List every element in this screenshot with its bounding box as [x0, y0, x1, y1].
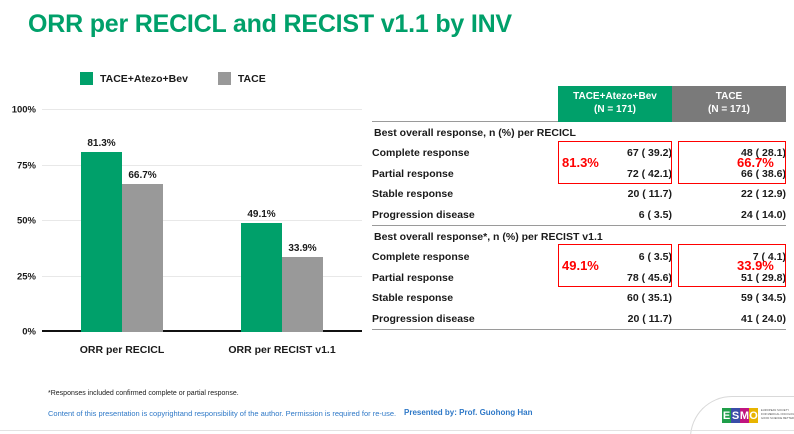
esmo-letter-e: E [722, 408, 731, 423]
page-title: ORR per RECICL and RECIST v1.1 by INV [28, 10, 512, 39]
highlight-overlay: 81.3%66.7%49.1%33.9% [372, 86, 786, 327]
esmo-logo: E S M O EUROPEAN SOCIETY FOR MEDICAL ONC… [722, 408, 794, 423]
legend-label-arm2: TACE [238, 73, 266, 85]
y-axis-tick: 75% [17, 160, 36, 171]
bar-value-label: 33.9% [288, 243, 316, 254]
legend-swatch-arm2 [218, 72, 231, 85]
y-axis-tick: 25% [17, 271, 36, 282]
x-axis-category-label: ORR per RECIST v1.1 [228, 344, 335, 356]
copyright-notice: Content of this presentation is copyrigh… [48, 409, 396, 418]
esmo-tagline-line-3: GOOD SCIENCE BETTER MEDICINE BEST PRACTI… [761, 418, 794, 421]
slide-root: ORR per RECICL and RECIST v1.1 by INV TA… [0, 0, 794, 434]
legend-swatch-arm1 [80, 72, 93, 85]
bar: 33.9% [282, 257, 323, 332]
bottom-divider [0, 430, 794, 431]
x-axis-category-label: ORR per RECICL [80, 344, 165, 356]
bar-value-label: 66.7% [128, 170, 156, 181]
bar-value-label: 81.3% [87, 138, 115, 149]
esmo-wordmark: E S M O [722, 408, 758, 423]
esmo-letter-s: S [731, 408, 740, 423]
bar-chart: TACE+Atezo+Bev TACE 0%25%50%75%100% 81.3… [0, 62, 372, 372]
orr-percent-arm1: 81.3% [562, 155, 599, 170]
legend-label-arm1: TACE+Atezo+Bev [100, 73, 188, 85]
orr-percent-arm2: 66.7% [737, 155, 774, 170]
legend-item-arm1: TACE+Atezo+Bev [80, 72, 188, 85]
chart-legend: TACE+Atezo+Bev TACE [80, 72, 266, 85]
esmo-tagline: EUROPEAN SOCIETY FOR MEDICAL ONCOLOGY GO… [761, 410, 794, 421]
bar: 81.3% [81, 152, 122, 332]
y-axis-tick: 0% [22, 327, 36, 338]
orr-percent-arm2: 33.9% [737, 258, 774, 273]
presenter-credit: Presented by: Prof. Guohong Han [404, 408, 532, 417]
esmo-letter-o: O [749, 408, 758, 423]
bar-value-label: 49.1% [247, 209, 275, 220]
footnote: *Responses included confirmed complete o… [48, 390, 239, 397]
esmo-letter-m: M [740, 408, 749, 423]
orr-percent-arm1: 49.1% [562, 258, 599, 273]
bar: 49.1% [241, 223, 282, 332]
y-axis-tick: 100% [12, 105, 36, 116]
y-axis-tick: 50% [17, 216, 36, 227]
results-table-panel: TACE+Atezo+Bev (N = 171) TACE (N = 171) … [372, 86, 786, 330]
plot-area: 0%25%50%75%100% 81.3%66.7%49.1%33.9% ORR… [42, 110, 362, 332]
bar: 66.7% [122, 184, 163, 332]
gridline [42, 109, 362, 110]
legend-item-arm2: TACE [218, 72, 266, 85]
